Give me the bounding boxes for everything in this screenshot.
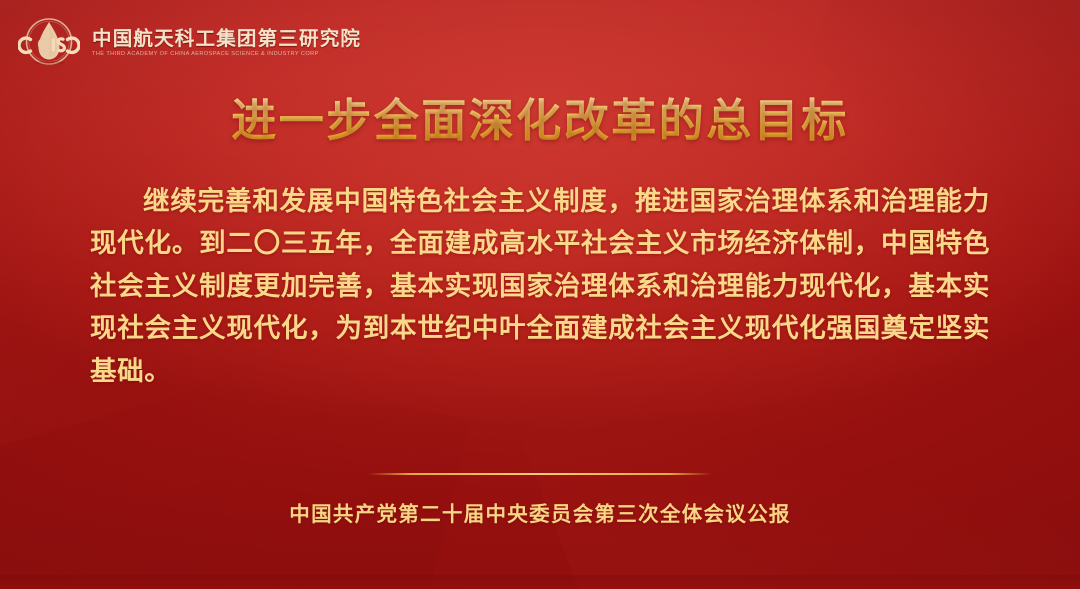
org-name-block: 中国航天科工集团第三研究院 THE THIRD ACADEMY OF CHINA… [92, 28, 361, 58]
org-header: 中国航天科工集团第三研究院 THE THIRD ACADEMY OF CHINA… [18, 14, 361, 72]
org-name-cn: 中国航天科工集团第三研究院 [92, 30, 361, 50]
poster-footer: 中国共产党第二十届中央委员会第三次全体会议公报 [0, 473, 1080, 527]
background-bottom-band [0, 575, 1080, 589]
org-name-en: THE THIRD ACADEMY OF CHINA AEROSPACE SCI… [92, 52, 361, 58]
poster-content: 进一步全面深化改革的总目标 继续完善和发展中国特色社会主义制度，推进国家治理体系… [0, 96, 1080, 392]
horizontal-rule-divider-icon [370, 473, 710, 475]
casic-logo-icon [18, 14, 80, 72]
poster-canvas: 中国航天科工集团第三研究院 THE THIRD ACADEMY OF CHINA… [0, 0, 1080, 589]
page-title: 进一步全面深化改革的总目标 [0, 96, 1080, 146]
body-paragraph: 继续完善和发展中国特色社会主义制度，推进国家治理体系和治理能力现代化。到二〇三五… [90, 180, 990, 393]
body-block: 继续完善和发展中国特色社会主义制度，推进国家治理体系和治理能力现代化。到二〇三五… [90, 180, 990, 393]
source-caption: 中国共产党第二十届中央委员会第三次全体会议公报 [0, 497, 1080, 527]
